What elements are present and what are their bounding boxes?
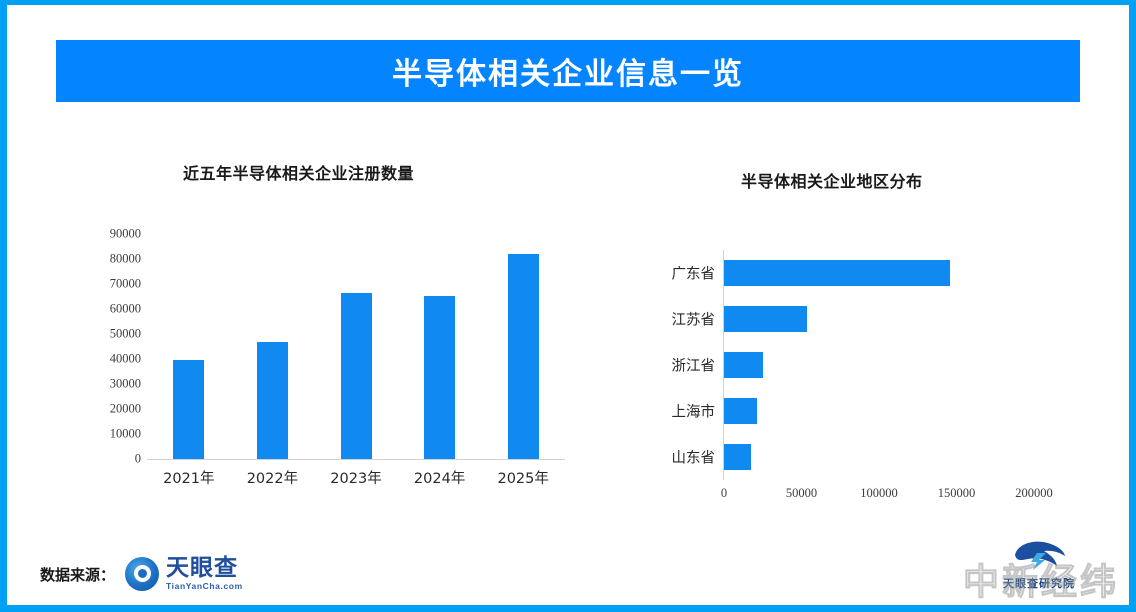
- horizontal-bar: [724, 260, 950, 286]
- tianyancha-eye-icon: [125, 557, 159, 591]
- source-label: 数据来源：: [40, 564, 115, 585]
- horizontal-bar: [724, 352, 763, 378]
- column-chart-baseline: [147, 459, 565, 460]
- column-chart-plot-area: [147, 234, 565, 459]
- institute-name: 天眼查研究院: [1003, 575, 1075, 591]
- tianyancha-name-en: TianYanCha.com: [166, 582, 243, 591]
- column-chart-y-tick: 20000: [83, 402, 141, 417]
- bar-chart-x-axis: 050000100000150000200000: [723, 486, 1043, 510]
- column-chart-x-tick: 2021年: [144, 467, 234, 488]
- bar-chart-plot-area: [724, 250, 1034, 480]
- horizontal-bar: [724, 306, 807, 332]
- left-chart-title: 近五年半导体相关企业注册数量: [183, 160, 414, 184]
- bar-chart-category-axis: 广东省江苏省浙江省上海市山东省: [637, 248, 715, 480]
- column-chart-x-tick: 2024年: [395, 467, 485, 488]
- column-chart-y-tick: 50000: [83, 327, 141, 342]
- title-banner: 半导体相关企业信息一览: [56, 40, 1080, 102]
- eagle-icon: [1011, 539, 1067, 573]
- column-chart-y-tick: 90000: [83, 227, 141, 242]
- column-chart-y-tick: 40000: [83, 352, 141, 367]
- tianyancha-name-cn: 天眼查: [166, 555, 238, 581]
- registrations-column-chart: 9000080000700006000050000400003000020000…: [83, 223, 583, 498]
- column-bar: [424, 296, 455, 459]
- column-chart-y-tick: 0: [83, 452, 141, 467]
- column-chart-y-tick: 70000: [83, 277, 141, 292]
- bar-chart-category-label: 山东省: [637, 447, 715, 468]
- infographic-canvas: 半导体相关企业信息一览 近五年半导体相关企业注册数量 9000080000700…: [7, 5, 1129, 605]
- column-bar: [341, 293, 372, 459]
- column-chart-y-tick: 10000: [83, 427, 141, 442]
- bar-chart-category-label: 浙江省: [637, 355, 715, 376]
- page-frame: 半导体相关企业信息一览 近五年半导体相关企业注册数量 9000080000700…: [0, 0, 1136, 612]
- column-chart-x-tick: 2023年: [311, 467, 401, 488]
- column-chart-x-axis: 2021年2022年2023年2024年2025年: [147, 467, 565, 497]
- region-distribution-bar-chart: 广东省江苏省浙江省上海市山东省 050000100000150000200000: [637, 248, 1057, 508]
- institute-logo: 天眼查研究院: [979, 529, 1099, 601]
- column-bar: [173, 360, 204, 459]
- column-bar: [257, 342, 288, 460]
- bar-chart-x-tick: 100000: [860, 486, 898, 501]
- horizontal-bar: [724, 398, 757, 424]
- right-chart-title: 半导体相关企业地区分布: [741, 168, 923, 192]
- column-chart-x-tick: 2025年: [478, 467, 568, 488]
- bar-chart-x-tick: 50000: [786, 486, 817, 501]
- column-chart-y-axis: 9000080000700006000050000400003000020000…: [83, 223, 141, 459]
- column-chart-y-tick: 80000: [83, 252, 141, 267]
- page-title: 半导体相关企业信息一览: [392, 49, 744, 93]
- column-chart-x-tick: 2022年: [227, 467, 317, 488]
- column-chart-y-tick: 60000: [83, 302, 141, 317]
- bar-chart-x-tick: 150000: [938, 486, 976, 501]
- bar-chart-category-label: 上海市: [637, 401, 715, 422]
- tianyancha-wordmark: 天眼查 TianYanCha.com: [166, 557, 243, 591]
- bar-chart-category-label: 江苏省: [637, 309, 715, 330]
- column-bar: [508, 254, 539, 459]
- horizontal-bar: [724, 444, 751, 470]
- tianyancha-logo: 天眼查 TianYanCha.com: [125, 557, 243, 591]
- bar-chart-x-tick: 0: [721, 486, 727, 501]
- bar-chart-category-label: 广东省: [637, 263, 715, 284]
- bar-chart-x-tick: 200000: [1015, 486, 1053, 501]
- data-source-footer: 数据来源： 天眼查 TianYanCha.com: [40, 557, 243, 591]
- column-chart-y-tick: 30000: [83, 377, 141, 392]
